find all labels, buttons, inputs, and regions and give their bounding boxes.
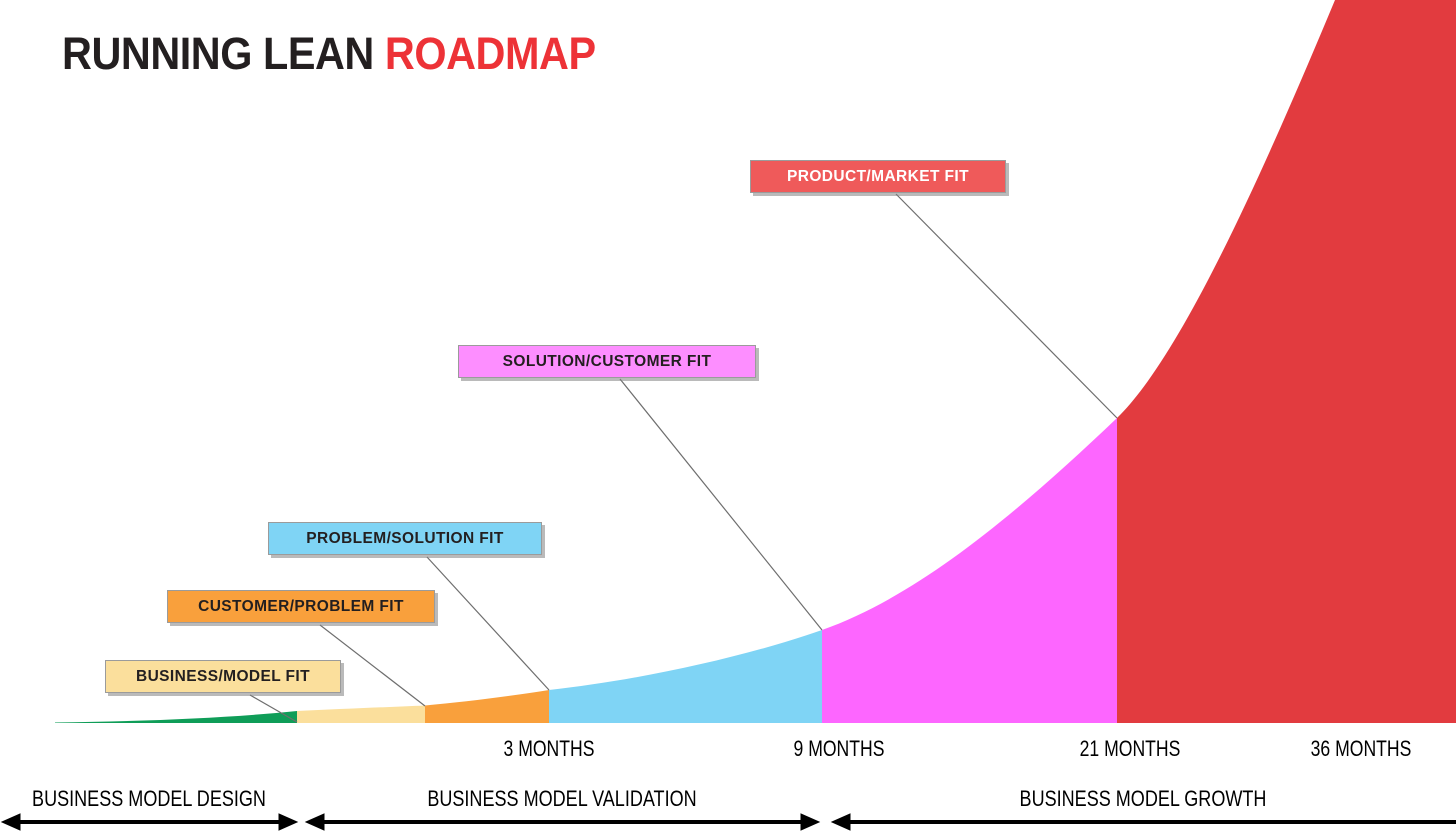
roadmap-canvas: RUNNING LEAN ROADMAP [0,0,1456,840]
month-tick-label: 9 MONTHS [767,736,911,762]
curve-segment-product-market-fit [822,418,1117,723]
milestone-label-problem-solution-fit[interactable]: PROBLEM/SOLUTION FIT [268,522,542,555]
growth-curve-chart [0,0,1456,840]
milestone-label-product-market-fit[interactable]: PRODUCT/MARKET FIT [750,160,1006,193]
phase-arrow-design [2,814,297,830]
milestone-label-business-model-fit[interactable]: BUSINESS/MODEL FIT [105,660,341,693]
phase-arrow-validation [306,814,819,830]
curve-segment-problem-solution-fit [425,690,549,723]
milestone-label-customer-problem-fit[interactable]: CUSTOMER/PROBLEM FIT [167,590,435,623]
curve-segment-customer-problem-fit [297,706,425,724]
leader-line-product-market-fit [896,194,1117,418]
curve-segment-growth [1117,0,1456,723]
curve-segment-solution-customer-fit [549,630,822,723]
milestone-label-solution-customer-fit[interactable]: SOLUTION/CUSTOMER FIT [458,345,756,378]
month-tick-label: 21 MONTHS [1058,736,1202,762]
phase-label: BUSINESS MODEL GROWTH [979,786,1307,812]
leader-line-solution-customer-fit [620,379,822,630]
leader-line-problem-solution-fit [427,557,549,690]
phase-arrow-growth [832,814,1456,830]
phase-arrows [2,814,1456,830]
phase-label: BUSINESS MODEL VALIDATION [398,786,726,812]
phase-label: BUSINESS MODEL DESIGN [0,786,313,812]
curve-segment-business-model-fit [55,711,297,723]
month-tick-label: 3 MONTHS [477,736,621,762]
month-tick-label: 36 MONTHS [1289,736,1433,762]
